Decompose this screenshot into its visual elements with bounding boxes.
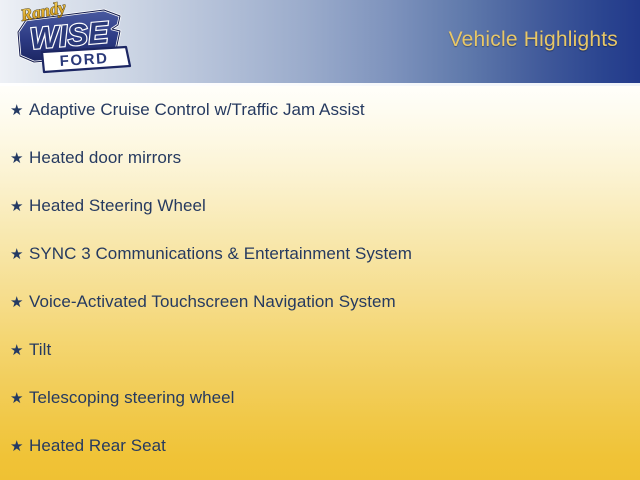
- list-item-label: SYNC 3 Communications & Entertainment Sy…: [29, 245, 640, 264]
- svg-text:FORD: FORD: [59, 50, 109, 70]
- highlight-list: ★ Adaptive Cruise Control w/Traffic Jam …: [0, 86, 640, 470]
- star-icon: ★: [10, 103, 29, 118]
- list-item-label: Heated door mirrors: [29, 149, 640, 168]
- star-icon: ★: [10, 199, 29, 214]
- list-item: ★ Tilt: [0, 326, 640, 374]
- star-icon: ★: [10, 439, 29, 454]
- vehicle-highlights-slide: Vehicle Highlights: [0, 0, 640, 480]
- list-item: ★ SYNC 3 Communications & Entertainment …: [0, 230, 640, 278]
- list-item-label: Adaptive Cruise Control w/Traffic Jam As…: [29, 101, 640, 120]
- logo-ford-banner: FORD: [42, 47, 130, 72]
- list-item: ★ Heated Steering Wheel: [0, 182, 640, 230]
- list-item-label: Tilt: [29, 341, 640, 360]
- list-item: ★ Adaptive Cruise Control w/Traffic Jam …: [0, 86, 640, 134]
- list-item: ★ Telescoping steering wheel: [0, 374, 640, 422]
- page-title: Vehicle Highlights: [449, 28, 618, 52]
- highlights-body: ★ Adaptive Cruise Control w/Traffic Jam …: [0, 86, 640, 480]
- star-icon: ★: [10, 295, 29, 310]
- dealer-logo: WISE Randy FORD: [8, 0, 140, 80]
- star-icon: ★: [10, 391, 29, 406]
- star-icon: ★: [10, 343, 29, 358]
- star-icon: ★: [10, 247, 29, 262]
- list-item-label: Voice-Activated Touchscreen Navigation S…: [29, 293, 640, 312]
- list-item-label: Telescoping steering wheel: [29, 389, 640, 408]
- list-item-label: Heated Steering Wheel: [29, 197, 640, 216]
- list-item: ★ Heated Rear Seat: [0, 422, 640, 470]
- list-item: ★ Heated door mirrors: [0, 134, 640, 182]
- star-icon: ★: [10, 151, 29, 166]
- list-item: ★ Voice-Activated Touchscreen Navigation…: [0, 278, 640, 326]
- list-item-label: Heated Rear Seat: [29, 437, 640, 456]
